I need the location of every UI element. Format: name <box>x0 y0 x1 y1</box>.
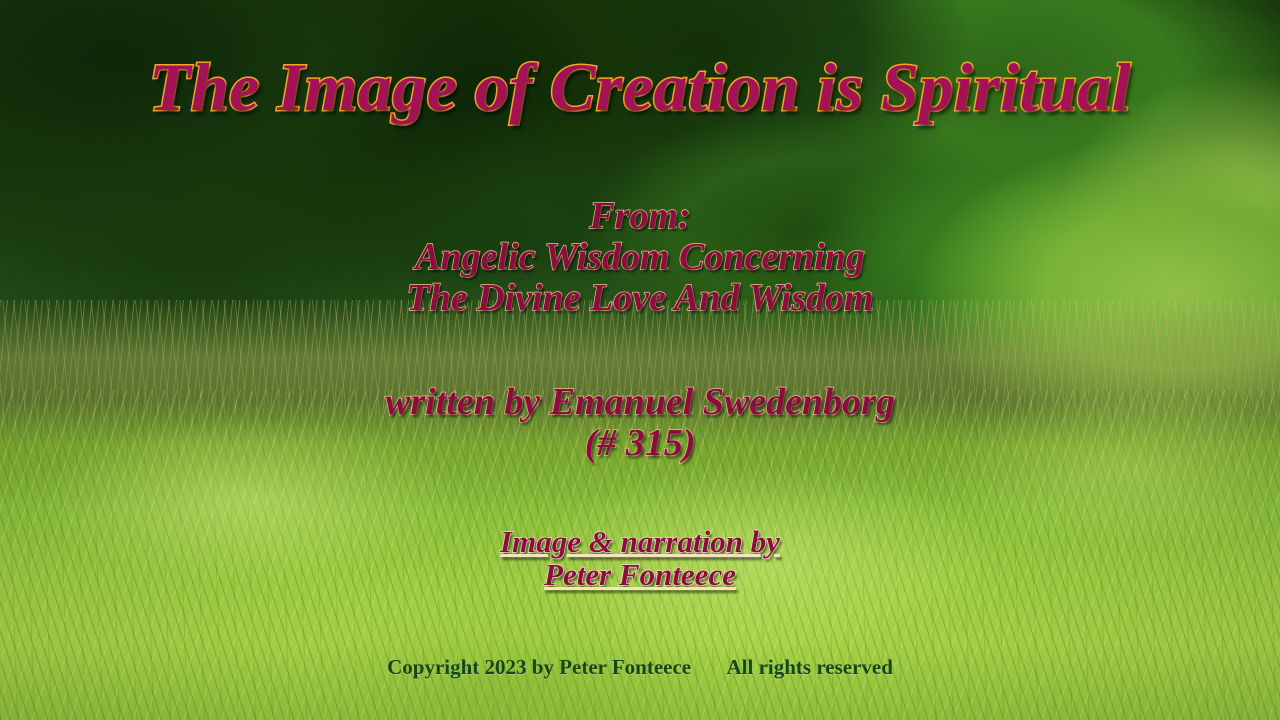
work-title-line-2: The Divine Love And Wisdom <box>0 278 1280 319</box>
from-label: From: <box>0 196 1280 237</box>
work-title-line-1: Angelic Wisdom Concerning <box>0 237 1280 278</box>
source-block: From: Angelic Wisdom Concerning The Divi… <box>0 196 1280 319</box>
slide-title: The Image of Creation is Spiritual <box>0 48 1280 127</box>
author-block: written by Emanuel Swedenborg (# 315) <box>0 382 1280 464</box>
credit-name-line: Peter Fonteece <box>0 558 1280 591</box>
text-overlay: The Image of Creation is Spiritual From:… <box>0 0 1280 720</box>
copyright-line: Copyright 2023 by Peter Fonteece All rig… <box>0 655 1280 680</box>
section-number: (# 315) <box>0 423 1280 464</box>
credit-block: Image & narration by Peter Fonteece <box>0 525 1280 592</box>
author-line: written by Emanuel Swedenborg <box>0 382 1280 423</box>
title-slide: The Image of Creation is Spiritual From:… <box>0 0 1280 720</box>
rights-reserved: All rights reserved <box>726 655 892 679</box>
credit-role-line: Image & narration by <box>0 525 1280 558</box>
copyright-notice: Copyright 2023 by Peter Fonteece <box>387 655 691 679</box>
